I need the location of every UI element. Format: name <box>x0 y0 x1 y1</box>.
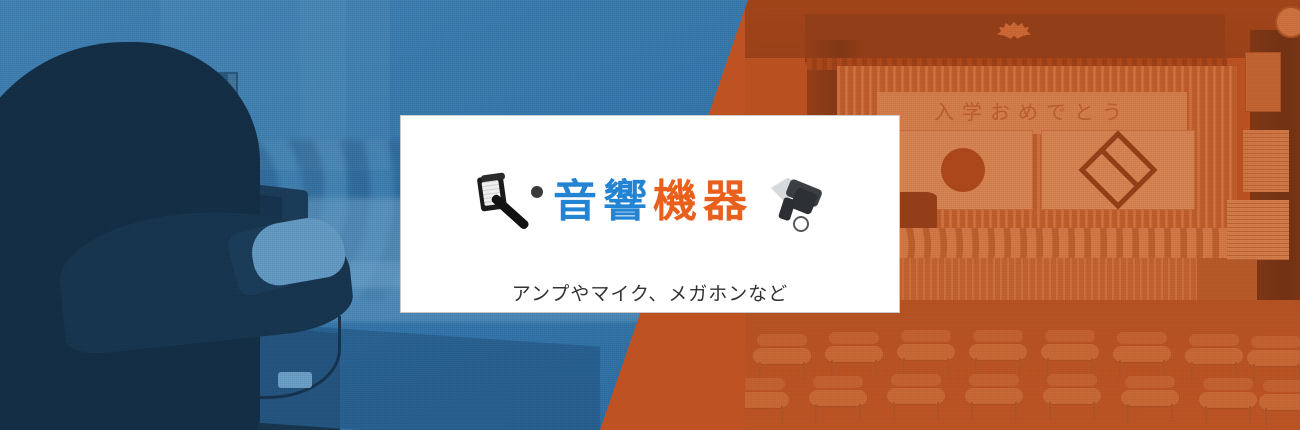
megaphone-icon <box>767 174 825 230</box>
page-title-blue: 音響 <box>553 176 653 227</box>
amp-and-microphone-icon <box>475 174 539 230</box>
title-row: 音響機器 <box>475 150 825 253</box>
megaphone-handle <box>778 196 796 221</box>
page-title: 音響機器 <box>553 180 753 224</box>
handheld-microphone-grille <box>529 183 546 200</box>
megaphone-strap-ring <box>793 216 809 232</box>
page-subtitle: アンプやマイク、メガホンなど <box>512 279 789 306</box>
page-title-orange: 機器 <box>653 176 753 227</box>
category-title-card: 音響機器 アンプやマイク、メガホンなど <box>400 115 900 313</box>
handheld-microphone-body <box>490 193 530 230</box>
category-hero-banner: 入学おめでとう <box>0 0 1300 430</box>
